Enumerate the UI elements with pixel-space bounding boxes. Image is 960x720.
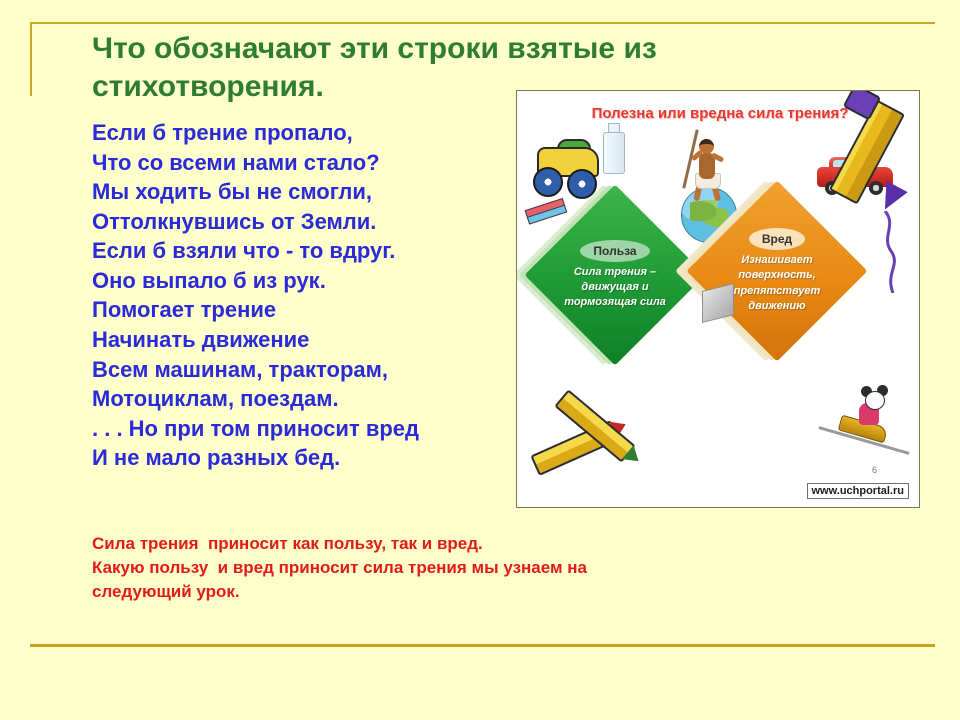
diamond-benefit: Польза Сила трения – движущая и тормозящ… (524, 184, 705, 365)
conclusion-line: Какую пользу и вред приносит сила трения… (92, 556, 622, 604)
sledding-mouse-icon (817, 387, 911, 479)
poem-line: И не мало разных бед. (92, 443, 512, 473)
poem-line: Мы ходить бы не смогли, (92, 177, 512, 207)
figure-page-number: 6 (872, 465, 877, 475)
embedded-figure: Полезна или вредна сила трения? (516, 90, 920, 508)
poem-line: Если б взяли что - то вдруг. (92, 236, 512, 266)
poem-line: Всем машинам, тракторам, (92, 355, 512, 385)
diamond-harm-badge: Вред (749, 228, 805, 250)
poem-line: Начинать движение (92, 325, 512, 355)
poem-line: Оно выпало б из рук. (92, 266, 512, 296)
poem-line: Оттолкнувшись от Земли. (92, 207, 512, 237)
poem-line: Что со всеми нами стало? (92, 148, 512, 178)
slide-frame-bottom-rule (30, 644, 935, 647)
purple-squiggle-icon (879, 211, 907, 293)
conclusion-line: Сила трения приносит как пользу, так и в… (92, 532, 622, 556)
poem-line: . . . Но при том приносит вред (92, 414, 512, 444)
crossed-crayons-icon (527, 391, 647, 481)
poem-block: Если б трение пропало, Что со всеми нами… (92, 118, 512, 473)
poem-line: Мотоциклам, поездам. (92, 384, 512, 414)
bottle-icon (603, 123, 623, 173)
figure-watermark: www.uchportal.ru (807, 483, 910, 499)
diamond-harm-body: Изнашивает поверхность, препятствует дви… (725, 253, 829, 314)
diamond-harm: Вред Изнашивает поверхность, препятствуе… (686, 180, 867, 361)
slide-frame-top-rule (30, 22, 935, 24)
poem-line: Помогает трение (92, 295, 512, 325)
diamond-benefit-body: Сила трения – движущая и тормозящая сила (563, 265, 667, 311)
slide-frame-left-rule (30, 22, 32, 96)
diamond-benefit-badge: Польза (580, 240, 649, 262)
poem-line: Если б трение пропало, (92, 118, 512, 148)
figure-title: Полезна или вредна сила трения? (575, 103, 865, 125)
conclusion-block: Сила трения приносит как пользу, так и в… (92, 532, 622, 604)
